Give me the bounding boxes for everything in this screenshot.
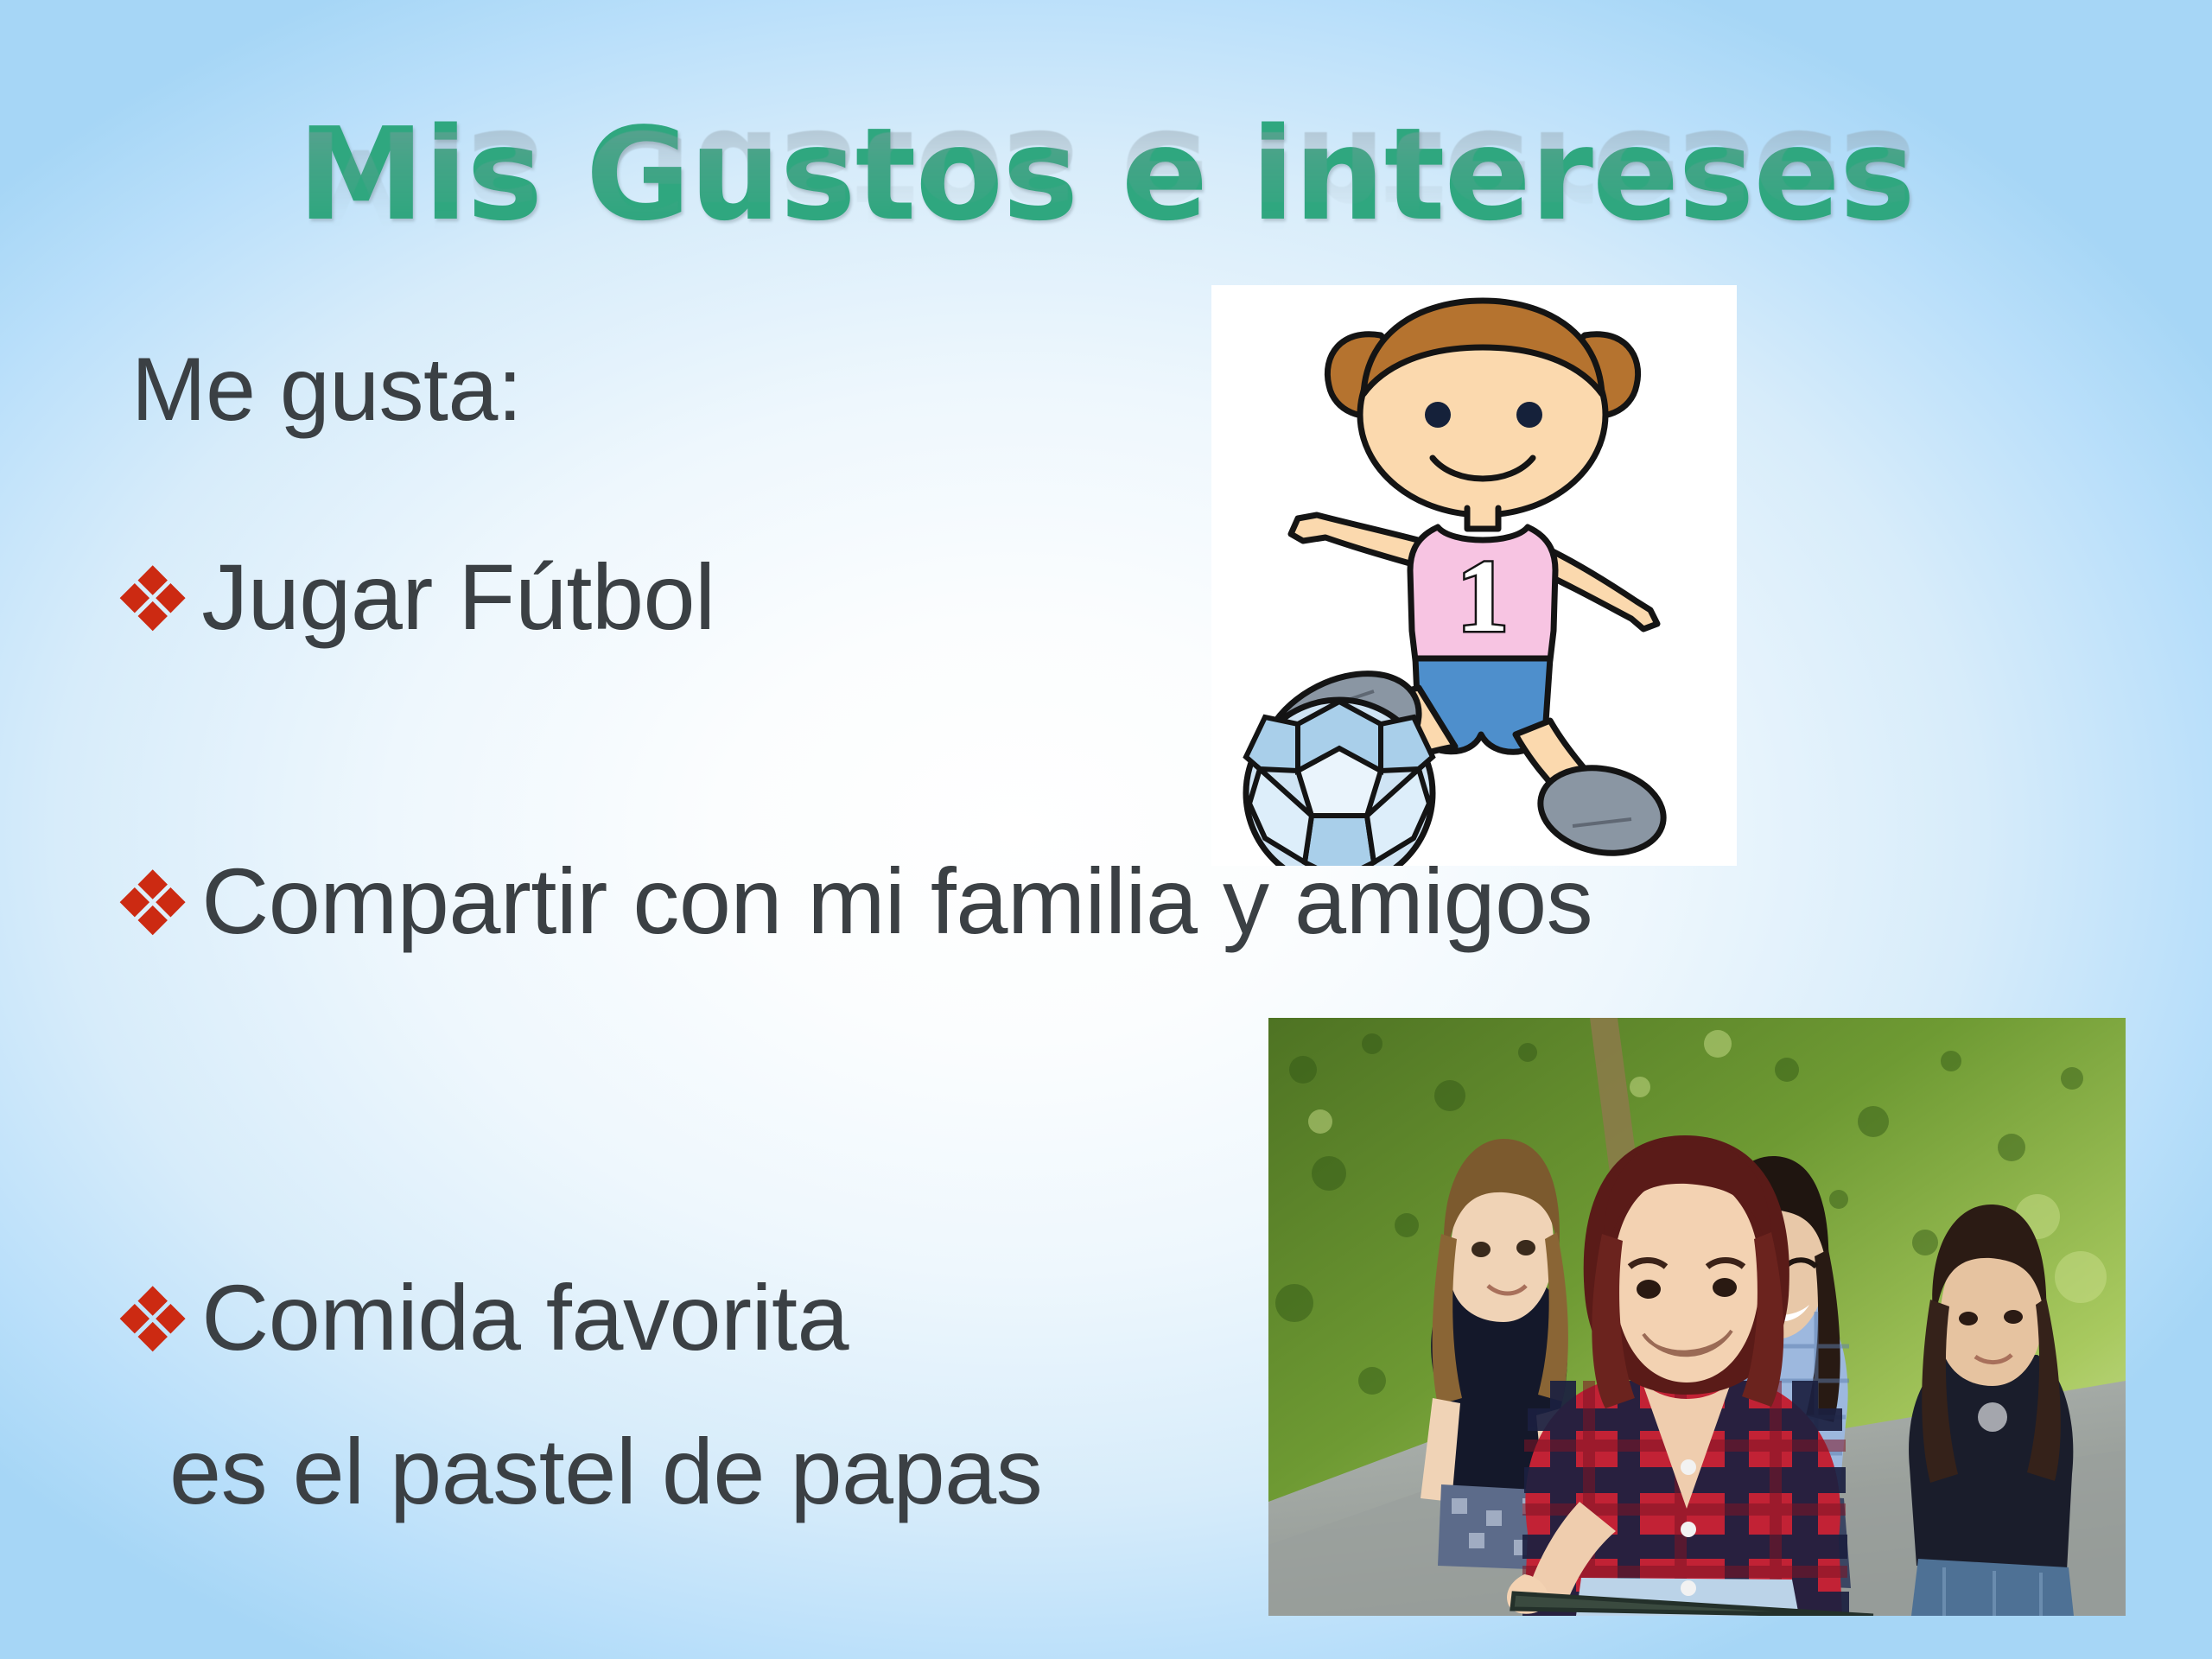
slide-title-block: Mis Gustos e intereses Mis Gustos e inte… (0, 111, 2212, 368)
jersey-number: 1 (1457, 538, 1509, 653)
friends-photo-illustration (1268, 1018, 2126, 1616)
diamond-bullet-icon: ❖ (112, 1275, 193, 1365)
eye-left (1425, 402, 1451, 428)
soccer-ball (1246, 700, 1433, 866)
eye-right (1516, 402, 1542, 428)
presentation-slide: Mis Gustos e intereses Mis Gustos e inte… (0, 0, 2212, 1659)
list-item: ❖ Jugar Fútbol (112, 550, 715, 645)
soccer-girl-illustration: 1 (1211, 285, 1737, 866)
list-item: ❖ Compartir con mi familia y amigos (112, 854, 1592, 949)
neck (1467, 508, 1498, 529)
diamond-bullet-icon: ❖ (112, 555, 193, 645)
list-item: ❖ Comida favorita (112, 1270, 849, 1365)
intro-line: Me gusta: (131, 339, 522, 442)
page-title-reflection: Mis Gustos e intereses (0, 112, 2212, 240)
list-item-label: Compartir con mi familia y amigos (201, 854, 1592, 949)
list-item-continuation: es el pastel de papas (169, 1417, 1042, 1525)
diamond-bullet-icon: ❖ (112, 859, 193, 949)
list-item-label: Jugar Fútbol (201, 550, 715, 645)
list-item-label: Comida favorita (201, 1270, 849, 1365)
page-title: Mis Gustos e intereses (0, 111, 2212, 238)
friends-selfie-photo (1268, 1018, 2126, 1616)
soccer-girl-clipart: 1 (1211, 285, 1737, 866)
